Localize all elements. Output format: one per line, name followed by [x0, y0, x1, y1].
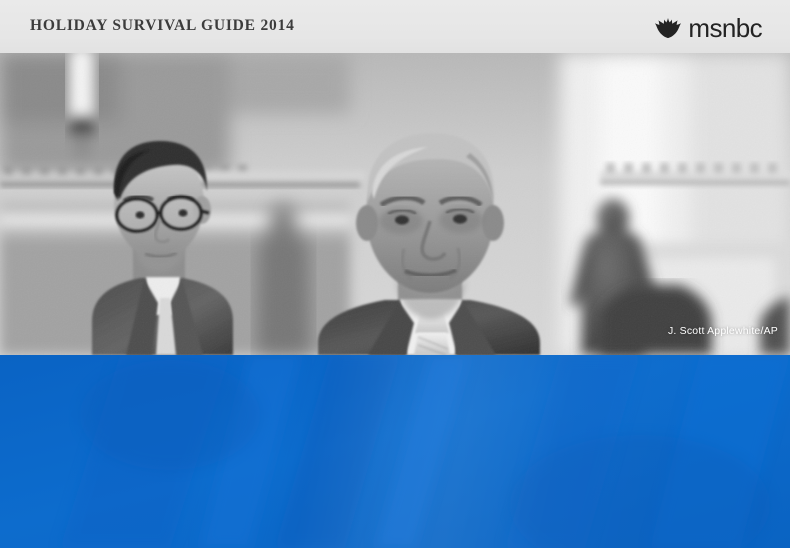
hero-photo: J. Scott Applewhite/AP	[0, 53, 790, 355]
photo-credit: J. Scott Applewhite/AP	[668, 325, 778, 337]
panel-background-pattern	[0, 355, 790, 548]
page-header: HOLIDAY SURVIVAL GUIDE 2014 msnbc	[0, 0, 790, 53]
holiday-survival-guide-card: HOLIDAY SURVIVAL GUIDE 2014 msnbc	[0, 0, 790, 548]
answer-panel: “Obama is going to be impeached for bein…	[0, 355, 790, 548]
page-title: HOLIDAY SURVIVAL GUIDE 2014	[30, 17, 295, 35]
msnbc-brand[interactable]: msnbc	[655, 13, 762, 41]
msnbc-wordmark: msnbc	[688, 15, 762, 41]
photo-illustration	[0, 53, 790, 355]
nbc-peacock-icon	[655, 15, 681, 39]
